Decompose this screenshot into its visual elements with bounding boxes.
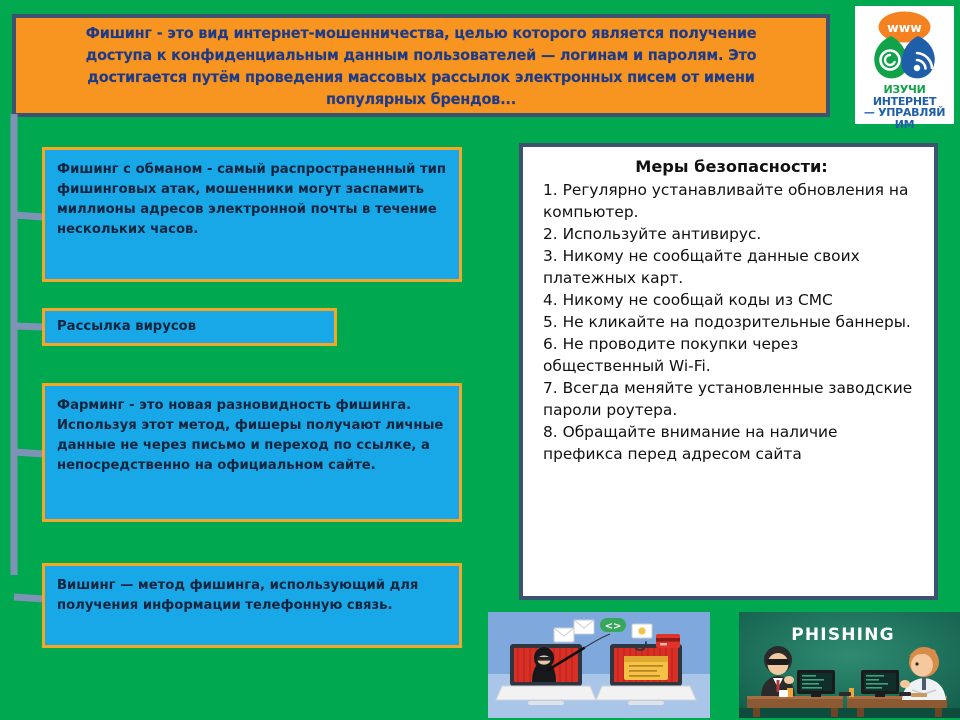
phishing-desk-scene-icon: PHISHING xyxy=(739,612,960,718)
safety-item: 2. Используйте антивирус. xyxy=(543,223,920,245)
title-banner: Фишинг - это вид интернет-мошенничества,… xyxy=(12,14,830,117)
safety-panel-title: Меры безопасности: xyxy=(543,155,920,178)
logo: www ИЗУЧИ ИНТЕРНЕТ — УПРАВЛЯЙ ИМ xyxy=(855,6,954,124)
logo-mark: www xyxy=(855,6,954,86)
safety-item: 4. Никому не сообщай коды из СМС xyxy=(543,289,920,311)
safety-item: 3. Никому не сообщайте данные своих плат… xyxy=(543,245,920,289)
attack-box-text: Фишинг с обманом - самый распространенны… xyxy=(57,162,446,237)
logo-caption: ИЗУЧИ ИНТЕРНЕТ — УПРАВЛЯЙ ИМ xyxy=(855,84,954,130)
logo-caption-line2: — УПРАВЛЯЙ ИМ xyxy=(855,107,954,130)
phishing-label: PHISHING xyxy=(791,625,895,645)
title-banner-text: Фишинг - это вид интернет-мошенничества,… xyxy=(54,22,789,110)
svg-text:www: www xyxy=(887,20,922,35)
attack-box-virus-mailing: Рассылка вирусов xyxy=(42,308,337,346)
safety-measures-panel: Меры безопасности: 1. Регулярно устанавл… xyxy=(519,143,938,600)
safety-item: 7. Всегда меняйте установленные заводски… xyxy=(543,377,920,421)
illustration-phishing-desk-scene: PHISHING xyxy=(739,612,960,718)
illustration-hacker-fishing-laptops: <> xyxy=(488,612,710,718)
logo-symbol-icon: www xyxy=(855,6,954,86)
svg-text:<>: <> xyxy=(605,621,622,632)
hacker-fishing-laptops-icon: <> xyxy=(488,612,710,718)
safety-item: 8. Обращайте внимание на наличие префикс… xyxy=(543,421,920,465)
attack-box-pharming: Фарминг - это новая разновидность фишинг… xyxy=(42,383,462,522)
attack-box-deceptive-phishing: Фишинг с обманом - самый распространенны… xyxy=(42,147,462,282)
safety-item: 6. Не проводите покупки через общественн… xyxy=(543,333,920,377)
infographic-slide: Фишинг - это вид интернет-мошенничества,… xyxy=(0,0,960,720)
safety-item: 1. Регулярно устанавливайте обновления н… xyxy=(543,179,920,223)
attack-box-text: Вишинг — метод фишинга, использующий для… xyxy=(57,578,418,613)
attack-box-vishing: Вишинг — метод фишинга, использующий для… xyxy=(42,563,462,648)
attack-box-text: Рассылка вирусов xyxy=(57,317,196,337)
attack-box-text: Фарминг - это новая разновидность фишинг… xyxy=(57,398,443,473)
safety-item: 5. Не кликайте на подозрительные баннеры… xyxy=(543,311,920,333)
